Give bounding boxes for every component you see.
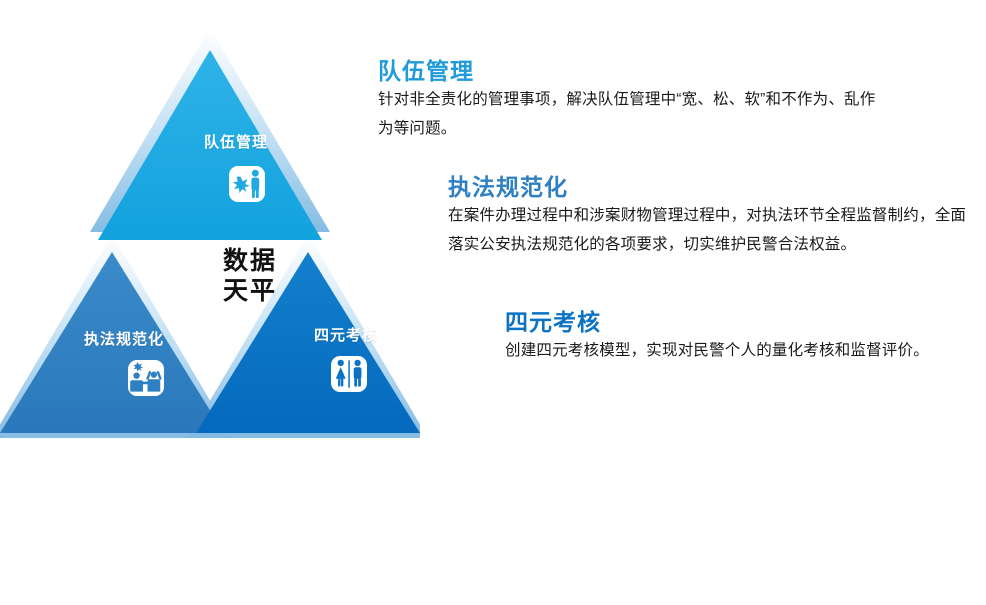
center-label: 数据 天平 <box>195 247 305 306</box>
section-body: 创建四元考核模型，实现对民警个人的量化考核和监督评价。 <box>505 337 983 366</box>
section-law-enforcement-standardization: 执法规范化 在案件办理过程中和涉案财物管理过程中，对执法环节全程监督制约，全面落… <box>448 174 972 260</box>
two-people-restroom-icon <box>331 356 367 392</box>
section-heading: 执法规范化 <box>448 174 972 200</box>
section-heading: 队伍管理 <box>378 58 878 84</box>
section-team-management: 队伍管理 针对非全责化的管理事项，解决队伍管理中“宽、松、软”和不作为、乱作为等… <box>378 58 878 144</box>
section-body: 在案件办理过程中和涉案财物管理过程中，对执法环节全程监督制约，全面落实公安执法规… <box>448 202 972 259</box>
officer-and-suspect-icon <box>128 360 164 396</box>
center-label-line-2: 天平 <box>195 277 305 307</box>
section-four-element-assessment: 四元考核 创建四元考核模型，实现对民警个人的量化考核和监督评价。 <box>505 309 983 366</box>
section-heading: 四元考核 <box>505 309 983 335</box>
triangle-diagram: 队伍管理 数据 天平 执法规范化 <box>0 0 420 454</box>
section-body: 针对非全责化的管理事项，解决队伍管理中“宽、松、软”和不作为、乱作为等问题。 <box>378 86 878 143</box>
person-with-burst-icon <box>229 166 265 202</box>
center-label-line-1: 数据 <box>195 247 305 277</box>
